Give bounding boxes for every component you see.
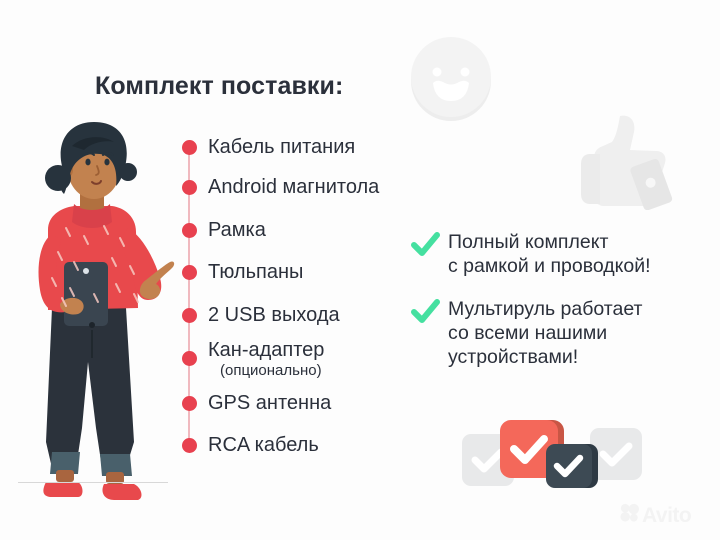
package-contents-list: Кабель питания Android магнитола Рамка Т… [180,0,440,540]
list-item-label: Android магнитола [208,176,379,198]
list-item-label: GPS антенна [208,392,331,414]
list-item-label: Кабель питания [208,136,355,158]
bullet-dot-icon [182,351,197,366]
product-info-graphic: Комплект поставки: Кабель питания Androi… [0,0,720,540]
avito-watermark: Avito [620,503,691,527]
avito-logo-icon [620,503,639,527]
list-item-label: Рамка [208,219,266,241]
list-item-label: RCA кабель [208,434,319,456]
thumbs-up-icon [578,110,674,210]
bullet-dot-icon [182,396,197,411]
ground-line [18,482,168,483]
check-mark-icon [410,297,440,327]
bullet-dot-icon [182,223,197,238]
list-item-label: 2 USB выхода [208,304,340,326]
bullet-dot-icon [182,308,197,323]
highlight-text: Полный комплект с рамкой и проводкой! [448,231,651,279]
highlight-text: Мультируль работает со всеми нашими устр… [448,298,643,369]
bullet-dot-icon [182,438,197,453]
list-item-sublabel: (опционально) [220,363,322,380]
list-item-label: Кан-адаптер [208,339,324,361]
bullet-dot-icon [182,180,197,195]
checkbox-cards-icon [462,418,642,496]
bullet-dot-icon [182,265,197,280]
woman-pointing-illustration [8,112,178,502]
list-item-label: Тюльпаны [208,261,303,283]
check-mark-icon [410,230,440,260]
bullet-dot-icon [182,140,197,155]
checkbox-card-dark [546,444,592,488]
avito-wordmark: Avito [642,505,691,526]
